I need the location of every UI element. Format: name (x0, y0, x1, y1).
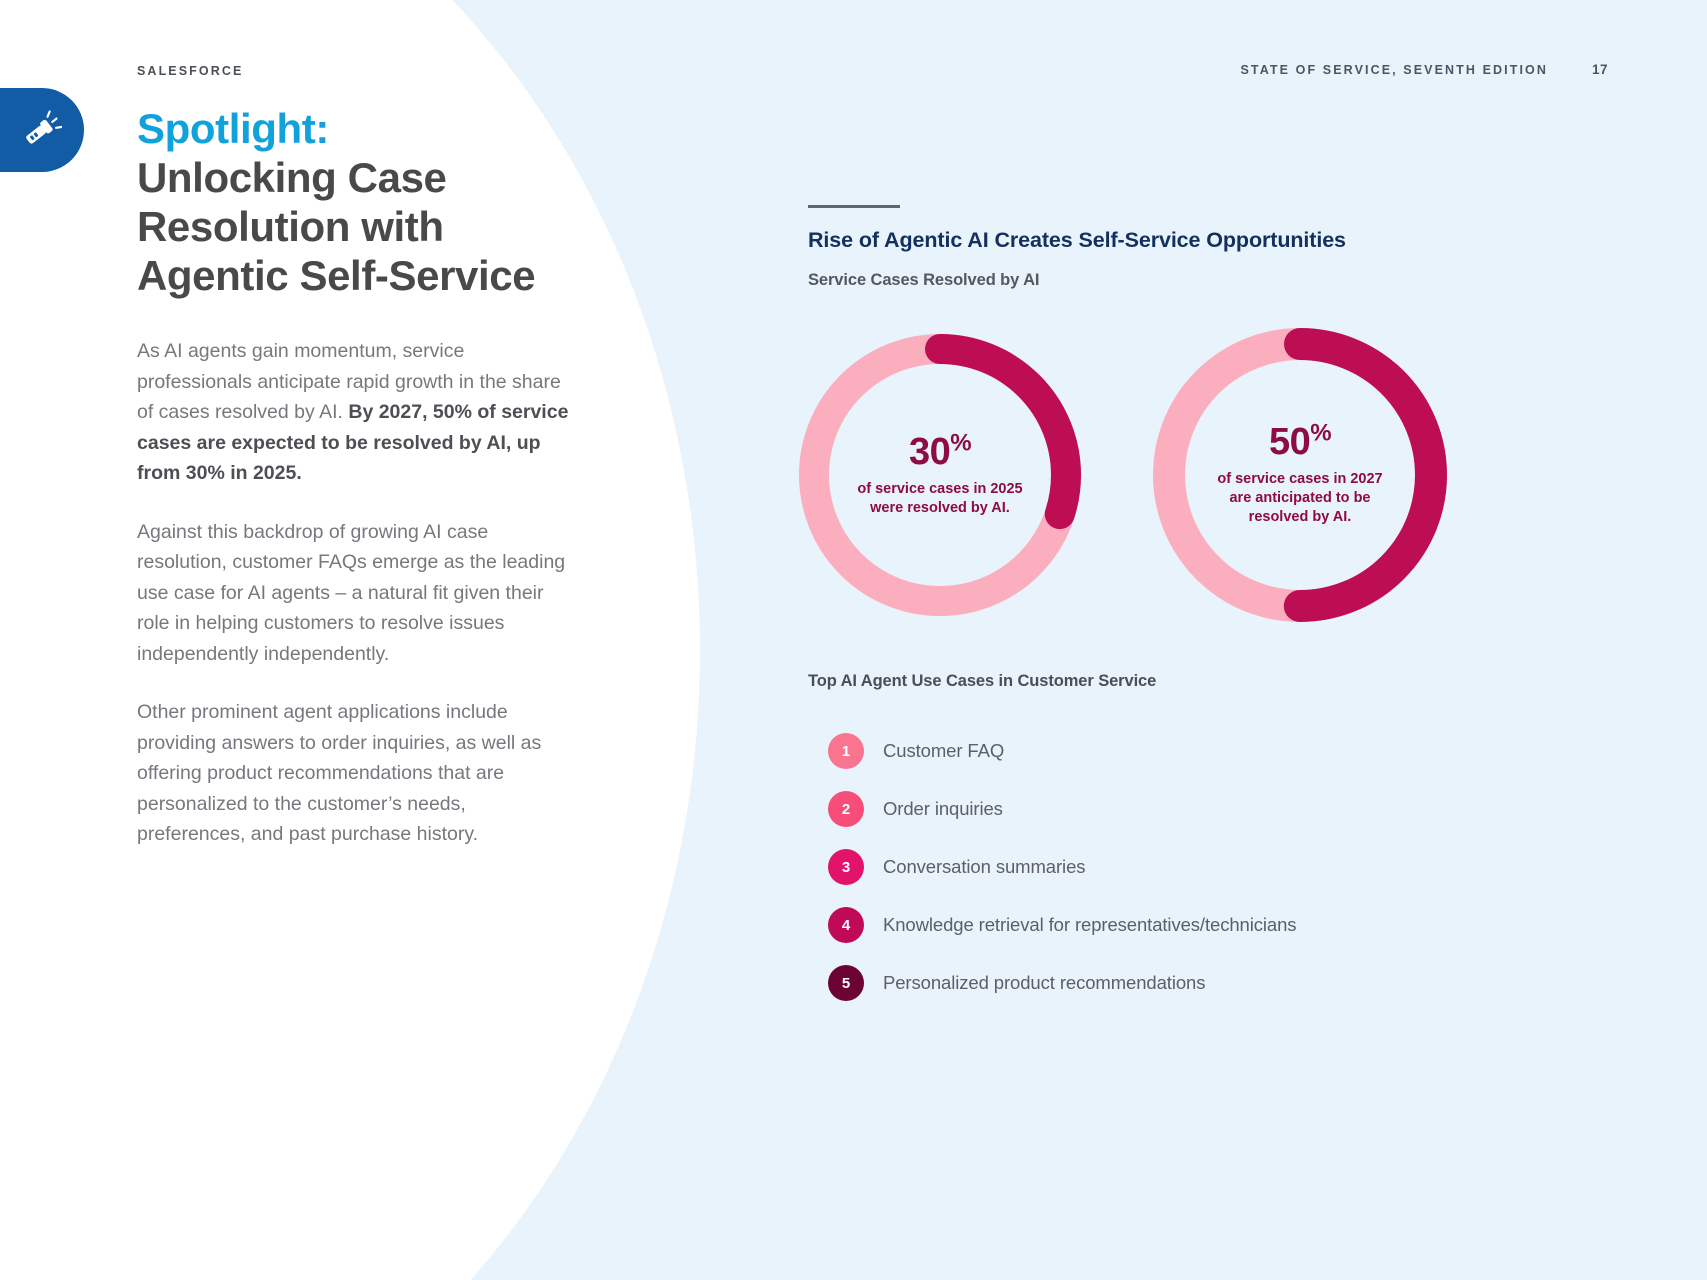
page-title-accent: Spotlight: (137, 104, 577, 153)
list-item-label: Knowledge retrieval for representatives/… (883, 914, 1296, 936)
rank-badge: 2 (828, 791, 864, 827)
list-item-label: Conversation summaries (883, 856, 1085, 878)
page-header: STATE OF SERVICE, SEVENTH EDITION 17 (808, 62, 1608, 77)
heading-rule (808, 205, 900, 208)
use-case-list-title: Top AI Agent Use Cases in Customer Servi… (808, 672, 1568, 691)
list-item-label: Customer FAQ (883, 740, 1004, 762)
body-copy: As AI agents gain momentum, service prof… (137, 336, 569, 850)
rank-badge: 5 (828, 965, 864, 1001)
list-item[interactable]: 1 Customer FAQ (828, 733, 1568, 769)
rank-badge: 4 (828, 907, 864, 943)
donut-value-2027: 50% (1269, 423, 1331, 461)
donut-caption-2027: of service cases in 2027 are anticipated… (1217, 470, 1382, 527)
chart-subtitle: Service Cases Resolved by AI (808, 271, 1568, 290)
chart-heading-block: Rise of Agentic AI Creates Self-Service … (808, 205, 1568, 290)
list-item[interactable]: 5 Personalized product recommendations (828, 965, 1568, 1001)
donut-chart-2025: 30% of service cases in 2025 were resolv… (790, 325, 1090, 625)
donut-chart-2027: 50% of service cases in 2027 are anticip… (1150, 325, 1450, 625)
rank-badge: 1 (828, 733, 864, 769)
donut-center-2027: 50% of service cases in 2027 are anticip… (1150, 325, 1450, 625)
flashlight-icon (18, 108, 62, 152)
donut-value-2025: 30% (909, 433, 971, 471)
list-item-label: Order inquiries (883, 798, 1003, 820)
list-item-label: Personalized product recommendations (883, 972, 1205, 994)
brand-label: SALESFORCE (137, 64, 577, 78)
donut-chart-group: 30% of service cases in 2025 were resolv… (790, 325, 1590, 675)
list-item[interactable]: 4 Knowledge retrieval for representative… (828, 907, 1568, 943)
list-item[interactable]: 3 Conversation summaries (828, 849, 1568, 885)
paragraph-1: As AI agents gain momentum, service prof… (137, 336, 569, 489)
left-column: SALESFORCE Spotlight: Unlocking Case Res… (137, 64, 577, 850)
donut-center-2025: 30% of service cases in 2025 were resolv… (790, 325, 1090, 625)
paragraph-3: Other prominent agent applications inclu… (137, 697, 569, 850)
report-title: STATE OF SERVICE, SEVENTH EDITION (1240, 63, 1548, 77)
page-number: 17 (1580, 62, 1608, 77)
report-page: STATE OF SERVICE, SEVENTH EDITION 17 SAL… (0, 0, 1707, 1280)
page-title: Spotlight: Unlocking Case Resolution wit… (137, 104, 577, 300)
rank-badge: 3 (828, 849, 864, 885)
spotlight-tab (0, 88, 84, 172)
chart-title: Rise of Agentic AI Creates Self-Service … (808, 228, 1568, 253)
paragraph-2: Against this backdrop of growing AI case… (137, 517, 569, 670)
list-item[interactable]: 2 Order inquiries (828, 791, 1568, 827)
donut-caption-2025: of service cases in 2025 were resolved b… (857, 480, 1022, 518)
use-case-list: Top AI Agent Use Cases in Customer Servi… (808, 672, 1568, 1001)
page-title-rest: Unlocking Case Resolution with Agentic S… (137, 154, 535, 299)
